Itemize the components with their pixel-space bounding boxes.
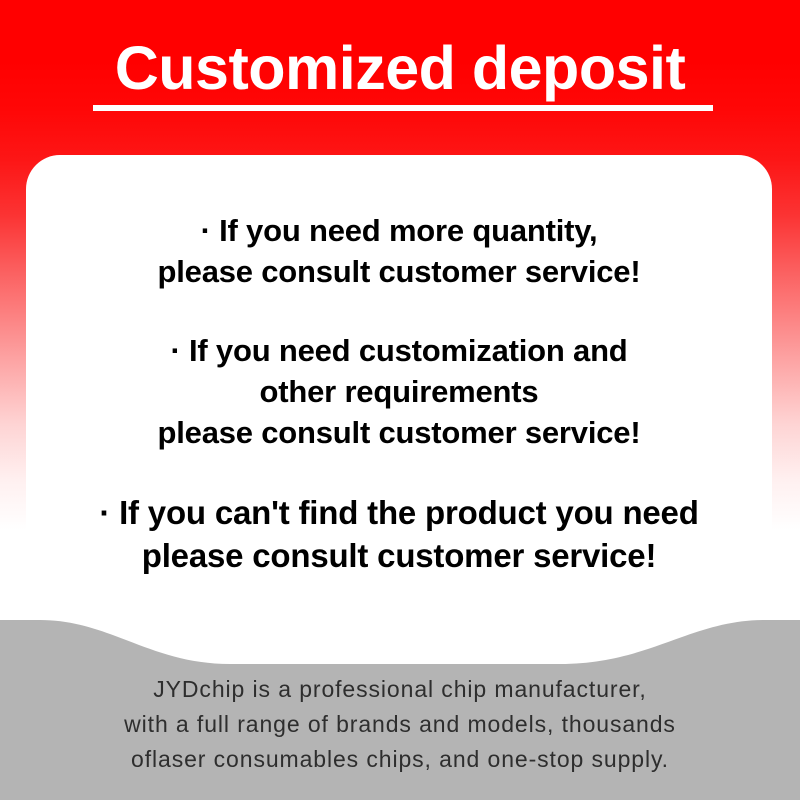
footer-line-2: with a full range of brands and models, … (0, 707, 800, 742)
info-card: · If you need more quantity, please cons… (26, 155, 772, 625)
footer-line-3: oflaser consumables chips, and one-stop … (0, 742, 800, 777)
info-block-2-line-2: other requirements (26, 371, 772, 412)
header-title-area: Customized deposit (0, 36, 800, 100)
info-block-3: · If you can't find the product you need… (26, 491, 772, 577)
footer-description: JYDchip is a professional chip manufactu… (0, 672, 800, 777)
title-underline-rule (93, 105, 713, 111)
info-block-1: · If you need more quantity, please cons… (26, 210, 772, 292)
info-block-3-line-1: · If you can't find the product you need (26, 491, 772, 534)
info-card-body: · If you need more quantity, please cons… (26, 155, 772, 577)
page-title: Customized deposit (0, 36, 800, 100)
footer-line-1: JYDchip is a professional chip manufactu… (0, 672, 800, 707)
promo-poster: Customized deposit · If you need more qu… (0, 0, 800, 800)
info-block-3-line-2: please consult customer service! (26, 534, 772, 577)
info-block-1-line-2: please consult customer service! (26, 251, 772, 292)
info-block-2-line-3: please consult customer service! (26, 412, 772, 453)
info-block-1-line-1: · If you need more quantity, (26, 210, 772, 251)
info-block-2-line-1: · If you need customization and (26, 330, 772, 371)
info-block-2: · If you need customization and other re… (26, 330, 772, 453)
